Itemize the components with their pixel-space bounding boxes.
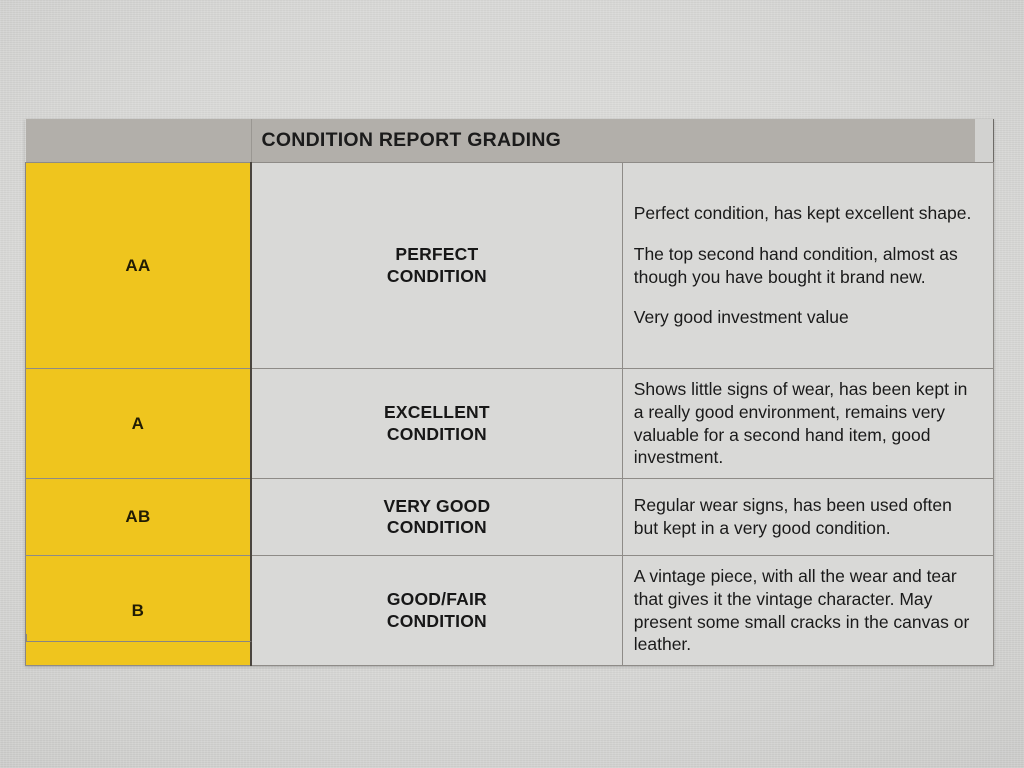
condition-label-line2: CONDITION [387,266,487,286]
grade-badge-aa: AA [26,163,252,369]
description-paragraph: A vintage piece, with all the wear and t… [634,565,979,656]
table-row: B GOOD/FAIR CONDITION A vintage piece, w… [26,556,994,666]
description-paragraph: Shows little signs of wear, has been kep… [634,378,979,469]
grade-badge-a: A [26,369,252,479]
page-title: CONDITION REPORT GRADING [252,129,562,151]
grade-column-overhang [26,634,252,642]
header-title-cell: CONDITION REPORT GRADING [251,119,994,163]
table-row: AB VERY GOOD CONDITION Regular wear sign… [26,479,994,556]
header-spacer-cell [26,119,252,163]
grade-badge-b: B [26,556,252,666]
condition-label-aa: PERFECT CONDITION [251,163,622,369]
description-paragraph: The top second hand condition, almost as… [634,243,979,289]
condition-label-line1: GOOD/FAIR [387,589,487,609]
condition-label-line2: CONDITION [387,611,487,631]
condition-description-ab: Regular wear signs, has been used often … [622,479,993,556]
grade-badge-ab: AB [26,479,252,556]
condition-description-a: Shows little signs of wear, has been kep… [622,369,993,479]
table-row: A EXCELLENT CONDITION Shows little signs… [26,369,994,479]
condition-label-ab: VERY GOOD CONDITION [251,479,622,556]
table-body: AA PERFECT CONDITION Perfect condition, … [26,163,994,666]
table-row: AA PERFECT CONDITION Perfect condition, … [26,163,994,369]
condition-label-line2: CONDITION [387,517,487,537]
table-header-row: CONDITION REPORT GRADING [26,119,994,163]
condition-label-line1: VERY GOOD [383,496,490,516]
condition-label-line1: PERFECT [395,244,478,264]
table-header: CONDITION REPORT GRADING [26,119,994,163]
description-paragraph: Regular wear signs, has been used often … [634,494,979,540]
condition-label-line2: CONDITION [387,424,487,444]
description-paragraph: Perfect condition, has kept excellent sh… [634,202,979,225]
condition-label-a: EXCELLENT CONDITION [251,369,622,479]
condition-report-grading-table: CONDITION REPORT GRADING AA PERFECT COND… [25,119,994,666]
condition-label-line1: EXCELLENT [384,402,490,422]
condition-label-b: GOOD/FAIR CONDITION [251,556,622,666]
condition-description-aa: Perfect condition, has kept excellent sh… [622,163,993,369]
condition-description-b: A vintage piece, with all the wear and t… [622,556,993,666]
description-paragraph: Very good investment value [634,306,979,329]
